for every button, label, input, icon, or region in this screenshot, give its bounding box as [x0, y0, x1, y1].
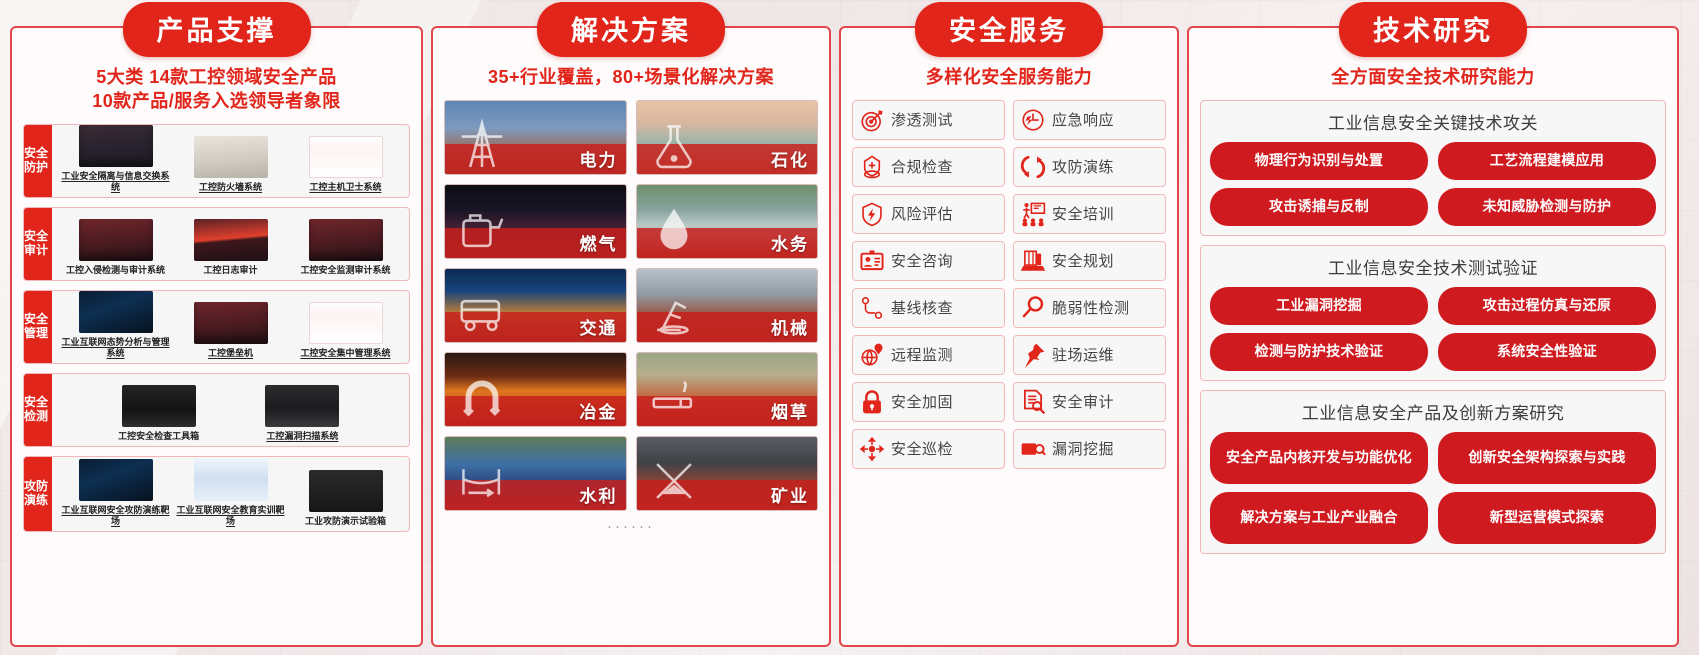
panel-tech-research: 技术研究 全方面安全技术研究能力 工业信息安全关键技术攻关 物理行为识别与处置 … — [1187, 26, 1679, 647]
service-item-security-training[interactable]: 安全培训 — [1013, 194, 1166, 234]
laptop-icon — [265, 385, 339, 427]
service-label: 风险评估 — [891, 203, 953, 224]
research-tag[interactable]: 创新安全架构探索与实践 — [1438, 432, 1656, 484]
product-row-label: 安全审计 — [24, 208, 52, 280]
research-tag[interactable]: 新型运营模式探索 — [1438, 492, 1656, 544]
service-label: 安全规划 — [1052, 250, 1114, 271]
service-item-security-hardening[interactable]: 安全加固 — [852, 382, 1005, 422]
headline-line-1: 5大类 14款工控领域安全产品 — [23, 66, 410, 90]
industry-grid: 电力 石化 燃气 水务 — [444, 100, 818, 511]
product-row-label: 安全管理 — [24, 291, 52, 363]
research-block-title: 工业信息安全关键技术攻关 — [1210, 109, 1656, 134]
industry-card-machine[interactable]: 机械 — [636, 268, 819, 343]
magnet-icon — [455, 370, 509, 424]
product-caption: 工业攻防演示试验箱 — [305, 516, 386, 527]
research-tag[interactable]: 物理行为识别与处置 — [1210, 142, 1428, 180]
circular-arrows-icon — [1020, 154, 1046, 180]
research-tag[interactable]: 安全产品内核开发与功能优化 — [1210, 432, 1428, 484]
research-block: 工业信息安全产品及创新方案研究 安全产品内核开发与功能优化 创新安全架构探索与实… — [1200, 390, 1666, 554]
gas-can-icon — [455, 202, 509, 256]
service-item-security-planning[interactable]: 安全规划 — [1013, 241, 1166, 281]
industry-card-hydro[interactable]: 水利 — [444, 436, 627, 511]
product-item[interactable]: 工控堡垒机 — [174, 302, 288, 359]
device-red-rack-icon — [79, 219, 153, 261]
service-label: 安全培训 — [1052, 203, 1114, 224]
industry-card-mining[interactable]: 矿业 — [636, 436, 819, 511]
product-caption: 工控安全集中管理系统 — [300, 348, 390, 359]
product-caption: 工控安全检查工具箱 — [118, 431, 199, 442]
headline-security-service: 多样化安全服务能力 — [852, 66, 1166, 90]
dam-icon — [455, 454, 509, 508]
panel-solutions: 解决方案 35+行业覆盖，80+场景化解决方案 电力 石化 — [431, 26, 831, 647]
laptop-books-icon — [1020, 248, 1046, 274]
research-tag[interactable]: 检测与防护技术验证 — [1210, 333, 1428, 371]
shield-bolt-icon — [859, 201, 885, 227]
black-demo-box-icon — [309, 470, 383, 512]
service-label: 安全巡检 — [891, 438, 953, 459]
industry-card-power[interactable]: 电力 — [444, 100, 627, 175]
industry-card-metal[interactable]: 冶金 — [444, 352, 627, 427]
training-board-icon — [1020, 201, 1046, 227]
panel-title-tech-research: 技术研究 — [1339, 2, 1527, 57]
device-dark-rack-icon — [79, 125, 153, 167]
service-label: 合规检查 — [891, 156, 953, 177]
product-row-label: 攻防演练 — [24, 457, 52, 531]
shield-plus-icon — [859, 154, 885, 180]
research-tag-grid: 工业漏洞挖掘 攻击过程仿真与还原 检测与防护技术验证 系统安全性验证 — [1210, 287, 1656, 371]
panel-body-solutions: 35+行业覆盖，80+场景化解决方案 电力 石化 — [433, 28, 829, 645]
product-row-items: 工控安全检查工具箱 工控漏洞扫描系统 — [52, 374, 409, 446]
industry-card-water[interactable]: 水务 — [636, 184, 819, 259]
product-caption: 工控入侵检测与审计系统 — [66, 265, 165, 276]
product-row-items: 工控入侵检测与审计系统 工控日志审计 工控安全监测审计系统 — [52, 208, 409, 280]
product-row-label: 安全检测 — [24, 374, 52, 446]
industry-name: 交通 — [580, 314, 618, 339]
product-item[interactable]: 工控日志审计 — [174, 219, 288, 276]
service-label: 安全加固 — [891, 391, 953, 412]
panel-title-security-service: 安全服务 — [915, 2, 1103, 57]
product-item[interactable]: 工控主机卫士系统 — [289, 136, 403, 193]
industry-name: 机械 — [771, 314, 809, 339]
panel-body-security-service: 多样化安全服务能力 渗透测试 应急响应 合规检查 攻防演练 — [841, 28, 1177, 645]
industry-name: 燃气 — [580, 230, 618, 255]
product-row: 安全审计 工控入侵检测与审计系统 工控日志审计 工控安全监测审计系统 — [23, 207, 410, 281]
screenshot-blue-dashboard-icon — [79, 459, 153, 501]
service-label: 安全审计 — [1052, 391, 1114, 412]
industry-card-gas[interactable]: 燃气 — [444, 184, 627, 259]
industry-name: 石化 — [771, 146, 809, 171]
service-label: 安全咨询 — [891, 250, 953, 271]
headline-tech-research: 全方面安全技术研究能力 — [1200, 66, 1666, 90]
product-row: 攻防演练 工业互联网安全攻防演练靶场 工业互联网安全教育实训靶场 工业攻防演示试… — [23, 456, 410, 532]
service-item-vulnerability-mining[interactable]: 漏洞挖掘 — [1013, 429, 1166, 469]
service-label: 远程监测 — [891, 344, 953, 365]
research-tag-grid: 安全产品内核开发与功能优化 创新安全架构探索与实践 解决方案与工业产业融合 新型… — [1210, 432, 1656, 544]
product-item[interactable]: 工控安全检查工具箱 — [102, 385, 216, 442]
product-item[interactable]: 工业安全隔离与信息交换系统 — [59, 125, 173, 193]
research-tag[interactable]: 系统安全性验证 — [1438, 333, 1656, 371]
product-item[interactable]: 工业互联网安全攻防演练靶场 — [59, 459, 173, 527]
product-item[interactable]: 工业攻防演示试验箱 — [289, 470, 403, 527]
bus-icon — [455, 286, 509, 340]
service-item-risk-assessment[interactable]: 风险评估 — [852, 194, 1005, 234]
cigarette-icon — [647, 370, 701, 424]
device-beige-switch-icon — [194, 136, 268, 178]
globe-pin-icon — [859, 342, 885, 368]
service-label: 驻场运维 — [1052, 344, 1114, 365]
research-block: 工业信息安全技术测试验证 工业漏洞挖掘 攻击过程仿真与还原 检测与防护技术验证 … — [1200, 245, 1666, 381]
device-red-line-rack-icon — [194, 219, 268, 261]
panel-security-service: 安全服务 多样化安全服务能力 渗透测试 应急响应 合规检查 攻 — [839, 26, 1179, 647]
pylon-icon — [455, 118, 509, 172]
industry-name: 矿业 — [771, 482, 809, 507]
product-item[interactable]: 工业互联网态势分析与管理系统 — [59, 291, 173, 359]
service-label: 基线核查 — [891, 297, 953, 318]
product-caption: 工控漏洞扫描系统 — [266, 431, 338, 442]
product-caption: 工业互联网态势分析与管理系统 — [59, 337, 173, 359]
headline-product-support: 5大类 14款工控领域安全产品 10款产品/服务入选领导者象限 — [23, 66, 410, 114]
product-caption: 工控主机卫士系统 — [309, 182, 381, 193]
service-label: 漏洞挖掘 — [1052, 438, 1114, 459]
product-row-items: 工业互联网态势分析与管理系统 工控堡垒机 工控安全集中管理系统 — [52, 291, 409, 363]
product-caption: 工控日志审计 — [203, 265, 257, 276]
product-row-label: 安全防护 — [24, 125, 52, 197]
research-block-title: 工业信息安全产品及创新方案研究 — [1210, 399, 1656, 424]
product-caption: 工业互联网安全教育实训靶场 — [174, 505, 288, 527]
research-block: 工业信息安全关键技术攻关 物理行为识别与处置 工艺流程建模应用 攻击诱捕与反制 … — [1200, 100, 1666, 236]
clock-bolt-icon — [1020, 107, 1046, 133]
magnifier-icon — [1020, 295, 1046, 321]
industry-name: 冶金 — [580, 398, 618, 423]
industry-card-traffic[interactable]: 交通 — [444, 268, 627, 343]
service-item-emergency-response[interactable]: 应急响应 — [1013, 100, 1166, 140]
service-item-vulnerability-detection[interactable]: 脆弱性检测 — [1013, 288, 1166, 328]
screenshot-blue-dashboard-icon — [79, 291, 153, 333]
product-item[interactable]: 工控安全集中管理系统 — [289, 302, 403, 359]
more-dots: ······ — [444, 518, 818, 535]
service-item-compliance-check[interactable]: 合规检查 — [852, 147, 1005, 187]
panel-title-product-support: 产品支撑 — [123, 2, 311, 57]
infographic-board: 产品支撑 5大类 14款工控领域安全产品 10款产品/服务入选领导者象限 安全防… — [0, 0, 1699, 655]
service-item-remote-monitoring[interactable]: 远程监测 — [852, 335, 1005, 375]
four-arrows-icon — [859, 436, 885, 462]
service-item-onsite-ops[interactable]: 驻场运维 — [1013, 335, 1166, 375]
water-drop-icon — [647, 202, 701, 256]
lock-icon — [859, 389, 885, 415]
service-item-attack-defense-drill[interactable]: 攻防演练 — [1013, 147, 1166, 187]
service-label: 渗透测试 — [891, 109, 953, 130]
panel-title-solutions: 解决方案 — [537, 2, 725, 57]
toolcase-laptop-icon — [122, 385, 196, 427]
product-item[interactable]: 工控防火墙系统 — [174, 136, 288, 193]
research-tag-grid: 物理行为识别与处置 工艺流程建模应用 攻击诱捕与反制 未知威胁检测与防护 — [1210, 142, 1656, 226]
service-item-security-audit[interactable]: 安全审计 — [1013, 382, 1166, 422]
industry-name: 水利 — [580, 482, 618, 507]
product-row: 安全检测 工控安全检查工具箱 工控漏洞扫描系统 — [23, 373, 410, 447]
target-icon — [859, 107, 885, 133]
document-search-icon — [1020, 389, 1046, 415]
product-row-items: 工业互联网安全攻防演练靶场 工业互联网安全教育实训靶场 工业攻防演示试验箱 — [52, 457, 409, 531]
id-card-icon — [859, 248, 885, 274]
pickaxe-icon — [647, 454, 701, 508]
research-tag[interactable]: 攻击诱捕与反制 — [1210, 188, 1428, 226]
headline-line-2: 10款产品/服务入选领导者象限 — [23, 90, 410, 114]
flask-icon — [647, 118, 701, 172]
service-label: 应急响应 — [1052, 109, 1114, 130]
product-item[interactable]: 工控漏洞扫描系统 — [246, 385, 360, 442]
node-link-icon — [859, 295, 885, 321]
panel-product-support: 产品支撑 5大类 14款工控领域安全产品 10款产品/服务入选领导者象限 安全防… — [10, 26, 423, 647]
research-tag[interactable]: 攻击过程仿真与还原 — [1438, 287, 1656, 325]
product-caption: 工业安全隔离与信息交换系统 — [59, 171, 173, 193]
device-red-rack-icon — [194, 302, 268, 344]
industry-card-tobacco[interactable]: 烟草 — [636, 352, 819, 427]
device-red-rack-icon — [309, 219, 383, 261]
research-tag[interactable]: 工业漏洞挖掘 — [1210, 287, 1428, 325]
product-item[interactable]: 工业互联网安全教育实训靶场 — [174, 459, 288, 527]
product-item[interactable]: 工控入侵检测与审计系统 — [59, 219, 173, 276]
research-tag[interactable]: 未知威胁检测与防护 — [1438, 188, 1656, 226]
product-item[interactable]: 工控安全监测审计系统 — [289, 219, 403, 276]
service-item-baseline-check[interactable]: 基线核查 — [852, 288, 1005, 328]
industry-name: 烟草 — [771, 398, 809, 423]
research-tag[interactable]: 解决方案与工业产业融合 — [1210, 492, 1428, 544]
panel-body-product-support: 5大类 14款工控领域安全产品 10款产品/服务入选领导者象限 安全防护 工业安… — [12, 28, 421, 645]
product-caption: 工业互联网安全攻防演练靶场 — [59, 505, 173, 527]
product-caption: 工控安全监测审计系统 — [300, 265, 390, 276]
industry-name: 水务 — [771, 230, 809, 255]
pushpin-icon — [1020, 342, 1046, 368]
service-label: 脆弱性检测 — [1052, 297, 1130, 318]
research-block-title: 工业信息安全技术测试验证 — [1210, 254, 1656, 279]
panel-body-tech-research: 全方面安全技术研究能力 工业信息安全关键技术攻关 物理行为识别与处置 工艺流程建… — [1189, 28, 1677, 645]
headline-solutions: 35+行业覆盖，80+场景化解决方案 — [444, 66, 818, 90]
service-grid: 渗透测试 应急响应 合规检查 攻防演练 风险评估 — [852, 100, 1166, 469]
product-caption: 工控防火墙系统 — [199, 182, 262, 193]
screenshot-white-ui-icon — [309, 302, 383, 344]
product-row: 安全防护 工业安全隔离与信息交换系统 工控防火墙系统 工控主机卫士系统 — [23, 124, 410, 198]
product-row: 安全管理 工业互联网态势分析与管理系统 工控堡垒机 工控安全集中管理系统 — [23, 290, 410, 364]
service-item-security-inspection[interactable]: 安全巡检 — [852, 429, 1005, 469]
screenshot-lightblue-portal-icon — [194, 459, 268, 501]
service-item-security-consulting[interactable]: 安全咨询 — [852, 241, 1005, 281]
screen-search-icon — [1020, 436, 1046, 462]
product-caption: 工控堡垒机 — [208, 348, 253, 359]
industry-card-petro[interactable]: 石化 — [636, 100, 819, 175]
industry-name: 电力 — [580, 146, 618, 171]
screenshot-white-ui-icon — [309, 136, 383, 178]
product-row-items: 工业安全隔离与信息交换系统 工控防火墙系统 工控主机卫士系统 — [52, 125, 409, 197]
service-label: 攻防演练 — [1052, 156, 1114, 177]
robot-arm-icon — [647, 286, 701, 340]
research-tag[interactable]: 工艺流程建模应用 — [1438, 142, 1656, 180]
service-item-penetration-test[interactable]: 渗透测试 — [852, 100, 1005, 140]
